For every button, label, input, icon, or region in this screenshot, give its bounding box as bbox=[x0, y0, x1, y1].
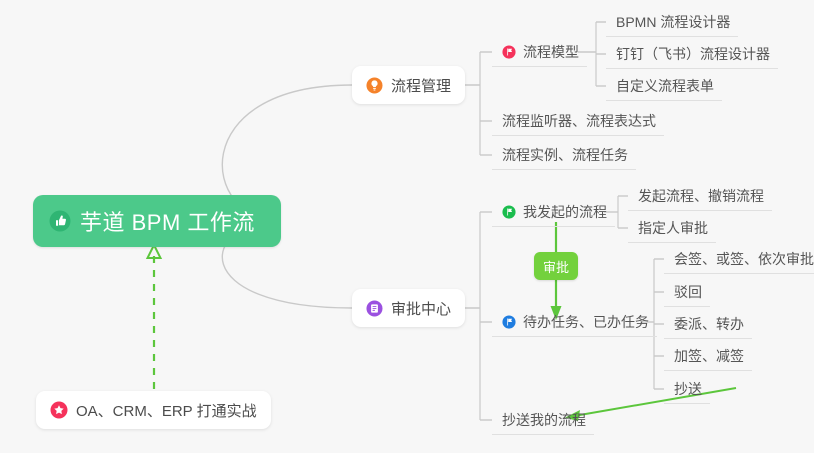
root-label: 芋道 BPM 工作流 bbox=[80, 205, 255, 237]
node-label: 委派、转办 bbox=[674, 314, 744, 334]
note-card[interactable]: OA、CRM、ERP 打通实战 bbox=[36, 391, 271, 429]
approval-tag-badge[interactable]: 审批 bbox=[534, 252, 578, 280]
node-cc-to-me-flows[interactable]: 抄送我的流程 bbox=[492, 405, 594, 435]
node-todo-done-tasks[interactable]: 待办任务、已办任务 bbox=[492, 307, 657, 337]
node-label: 指定人审批 bbox=[638, 218, 708, 238]
flag-circle-icon bbox=[502, 205, 516, 219]
branch-flow-management[interactable]: 流程管理 bbox=[352, 66, 465, 104]
star-circle-icon bbox=[50, 401, 68, 419]
node-custom-flow-form[interactable]: 自定义流程表单 bbox=[606, 71, 722, 101]
node-label: 抄送我的流程 bbox=[502, 410, 586, 430]
node-label: BPMN 流程设计器 bbox=[616, 12, 730, 32]
node-label: 会签、或签、依次审批 bbox=[674, 249, 814, 269]
branch-label: 审批中心 bbox=[391, 298, 451, 319]
node-label: 自定义流程表单 bbox=[616, 76, 714, 96]
root-node[interactable]: 芋道 BPM 工作流 bbox=[33, 195, 281, 247]
thumbs-up-icon bbox=[49, 210, 71, 232]
node-dingtalk-feishu-designer[interactable]: 钉钉（飞书）流程设计器 bbox=[606, 39, 778, 69]
node-label: 发起流程、撤销流程 bbox=[638, 186, 764, 206]
node-label: 抄送 bbox=[674, 379, 702, 399]
node-flow-model[interactable]: 流程模型 bbox=[492, 37, 587, 67]
node-add-remove-sign[interactable]: 加签、减签 bbox=[664, 341, 752, 371]
node-label: 待办任务、已办任务 bbox=[523, 312, 649, 332]
approval-tag-label: 审批 bbox=[543, 257, 569, 276]
node-label: 我发起的流程 bbox=[523, 202, 607, 222]
flag-circle-icon bbox=[502, 45, 516, 59]
node-flow-listener-expression[interactable]: 流程监听器、流程表达式 bbox=[492, 106, 664, 136]
branch-label: 流程管理 bbox=[391, 75, 451, 96]
node-reject[interactable]: 驳回 bbox=[664, 277, 710, 307]
lightbulb-icon bbox=[366, 77, 383, 94]
node-bpmn-designer[interactable]: BPMN 流程设计器 bbox=[606, 7, 738, 37]
node-delegate-transfer[interactable]: 委派、转办 bbox=[664, 309, 752, 339]
node-label: 流程模型 bbox=[523, 42, 579, 62]
flag-circle-icon bbox=[502, 315, 516, 329]
node-label: 流程监听器、流程表达式 bbox=[502, 111, 656, 131]
node-label: 加签、减签 bbox=[674, 346, 744, 366]
note-card-label: OA、CRM、ERP 打通实战 bbox=[76, 400, 257, 421]
node-label: 流程实例、流程任务 bbox=[502, 145, 628, 165]
doc-circle-icon bbox=[366, 300, 383, 317]
node-assignee-approval[interactable]: 指定人审批 bbox=[628, 213, 716, 243]
branch-approval-center[interactable]: 审批中心 bbox=[352, 289, 465, 327]
node-cc[interactable]: 抄送 bbox=[664, 374, 710, 404]
node-countersign-orsign-sequential[interactable]: 会签、或签、依次审批 bbox=[664, 244, 814, 274]
node-my-initiated-flows[interactable]: 我发起的流程 bbox=[492, 197, 615, 227]
note-dashed-arrow bbox=[148, 245, 161, 389]
node-label: 钉钉（飞书）流程设计器 bbox=[616, 44, 770, 64]
node-flow-instance-task[interactable]: 流程实例、流程任务 bbox=[492, 140, 636, 170]
mindmap-canvas: 芋道 BPM 工作流 流程管理 流程模型 BPMN 流程设计器 钉钉（飞书）流程 bbox=[0, 0, 814, 453]
node-label: 驳回 bbox=[674, 282, 702, 302]
node-start-cancel-flow[interactable]: 发起流程、撤销流程 bbox=[628, 181, 772, 211]
